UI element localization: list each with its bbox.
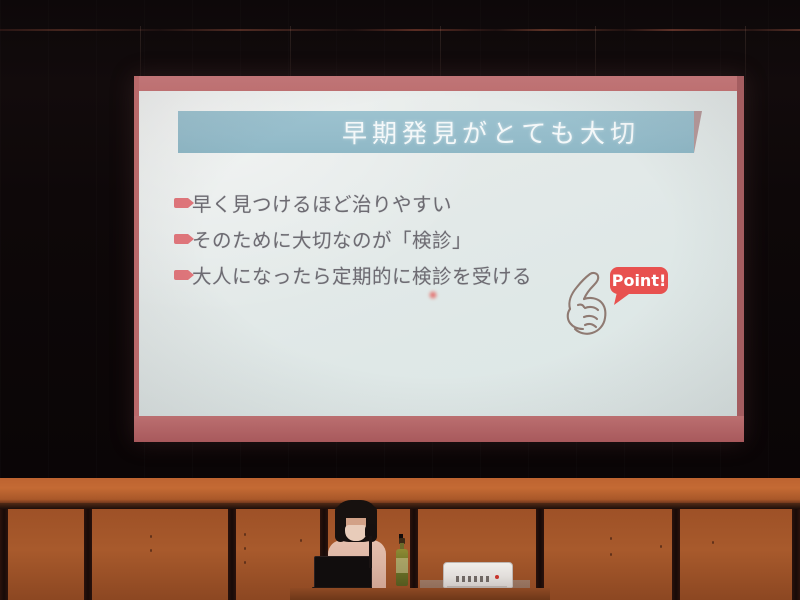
point-callout-graphic: Point! — [557, 261, 672, 346]
panel-divider — [792, 509, 800, 600]
panel-speck — [244, 561, 246, 564]
presentation-photo-scene: 早期発見がとても大切 早く見つけるほど治りやすい そのために大切なのが「検診」 … — [0, 0, 800, 600]
panel-speck — [150, 549, 152, 552]
screen-frame-right — [737, 76, 744, 442]
projector-power-led — [495, 575, 499, 579]
panel-speck — [244, 533, 246, 536]
arrow-bullet-icon — [174, 198, 188, 208]
bullet-text: そのために大切なのが「検診」 — [192, 224, 472, 253]
point-label: Point! — [612, 271, 667, 290]
slide-title: 早期発見がとても大切 — [232, 114, 640, 150]
panel-speck — [244, 547, 246, 550]
drink-bottle — [396, 538, 408, 586]
apron-top-surface — [0, 478, 800, 503]
laser-pointer-dot — [428, 290, 438, 300]
curtain-seam — [745, 26, 746, 106]
arrow-bullet-icon — [174, 234, 188, 244]
curtain-rail — [0, 29, 800, 31]
panel-speck — [610, 537, 612, 540]
slide-surface: 早期発見がとても大切 早く見つけるほど治りやすい そのために大切なのが「検診」 … — [139, 91, 737, 416]
projector-vent — [480, 576, 483, 582]
panel-speck — [300, 539, 302, 542]
projector — [443, 562, 511, 590]
microphone-stem — [369, 536, 372, 568]
panel-speck — [660, 545, 662, 548]
projector-body — [443, 562, 513, 588]
pointing-hand-icon — [568, 273, 606, 334]
panel-speck — [712, 541, 714, 544]
projector-vent — [468, 576, 471, 582]
list-item: そのために大切なのが「検診」 — [174, 223, 694, 254]
screen-frame-bottom — [134, 416, 744, 442]
panel-divider — [84, 509, 92, 600]
panel-divider — [672, 509, 680, 600]
panel-divider — [228, 509, 236, 600]
panel-speck — [610, 553, 612, 556]
laptop — [312, 556, 372, 592]
presenter-table-edge — [290, 588, 550, 600]
presenter-hair-left — [335, 506, 346, 542]
projection-screen: 早期発見がとても大切 早く見つけるほど治りやすい そのために大切なのが「検診」 … — [134, 76, 744, 442]
projector-vent — [462, 576, 465, 582]
slide-title-bar: 早期発見がとても大切 — [178, 111, 694, 153]
panel-speck — [150, 535, 152, 538]
bullet-text: 大人になったら定期的に検診を受ける — [192, 260, 532, 289]
projector-vent — [474, 576, 477, 582]
bullet-text: 早く見つけるほど治りやすい — [192, 188, 452, 217]
panel-divider — [536, 509, 544, 600]
arrow-bullet-icon — [174, 270, 188, 280]
projector-vent — [486, 576, 489, 582]
projector-vent — [456, 576, 459, 582]
laptop-screen — [314, 556, 372, 590]
panel-divider — [0, 509, 8, 600]
list-item: 早く見つけるほど治りやすい — [174, 187, 694, 218]
panel-divider — [410, 509, 418, 600]
bottle-label — [396, 558, 408, 573]
microphone — [365, 524, 377, 566]
screen-frame-top — [134, 76, 744, 91]
